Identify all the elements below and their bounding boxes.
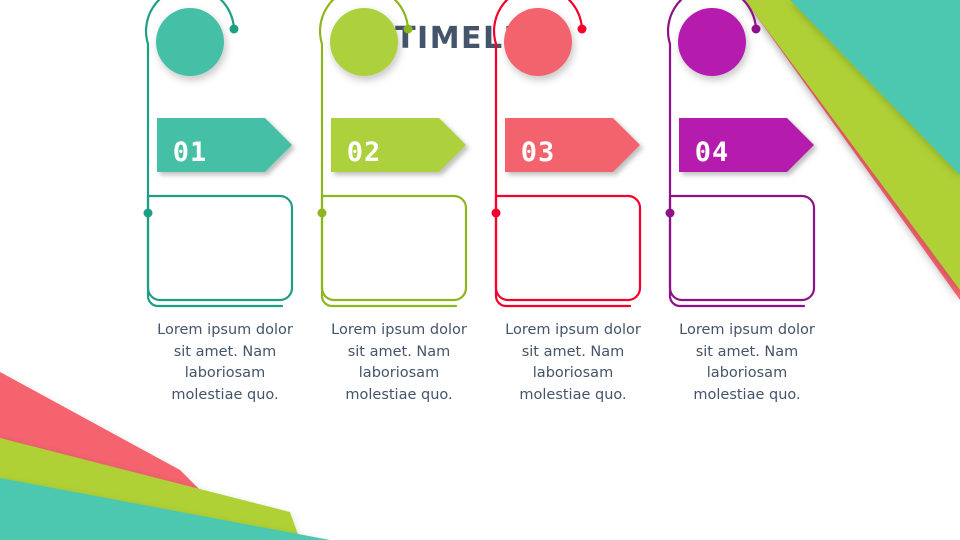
step-4-year: 20XX [674,243,784,269]
step-4-box-dot [666,209,675,218]
step-1-circle[interactable] [156,8,224,76]
step-4-number: 04 [672,137,752,169]
step-2-circle[interactable] [330,8,398,76]
step-1-description: Lorem ipsum dolor sit amet. Nam laborios… [154,320,296,406]
step-1-year: 20XX [152,243,262,269]
timeline-step-4: 04 20XX Lorem ipsum dolor sit amet. Nam … [654,0,834,540]
step-2-year: 20XX [326,243,436,269]
step-2-arc-dot [404,25,413,34]
step-1-arc-dot [230,25,239,34]
step-1-box-dot [144,209,153,218]
step-4-description: Lorem ipsum dolor sit amet. Nam laborios… [676,320,818,406]
step-2-description: Lorem ipsum dolor sit amet. Nam laborios… [328,320,470,406]
step-3-arc-dot [578,25,587,34]
step-3-box-dot [492,209,501,218]
step-3-circle[interactable] [504,8,572,76]
step-3-year: 20XX [500,243,610,269]
step-3-number: 03 [498,137,578,169]
timeline-step-1: 01 20XX Lorem ipsum dolor sit amet. Nam … [132,0,312,540]
step-4-circle[interactable] [678,8,746,76]
timeline-step-3: 03 20XX Lorem ipsum dolor sit amet. Nam … [480,0,660,540]
step-3-description: Lorem ipsum dolor sit amet. Nam laborios… [502,320,644,406]
step-4-arc-dot [752,25,761,34]
timeline-step-2: 02 20XX Lorem ipsum dolor sit amet. Nam … [306,0,486,540]
timeline-slide: TIMELINE 01 20XX Lorem ipsum dolor sit a… [0,0,960,540]
step-2-number: 02 [324,137,404,169]
step-2-box-dot [318,209,327,218]
step-1-number: 01 [150,137,230,169]
